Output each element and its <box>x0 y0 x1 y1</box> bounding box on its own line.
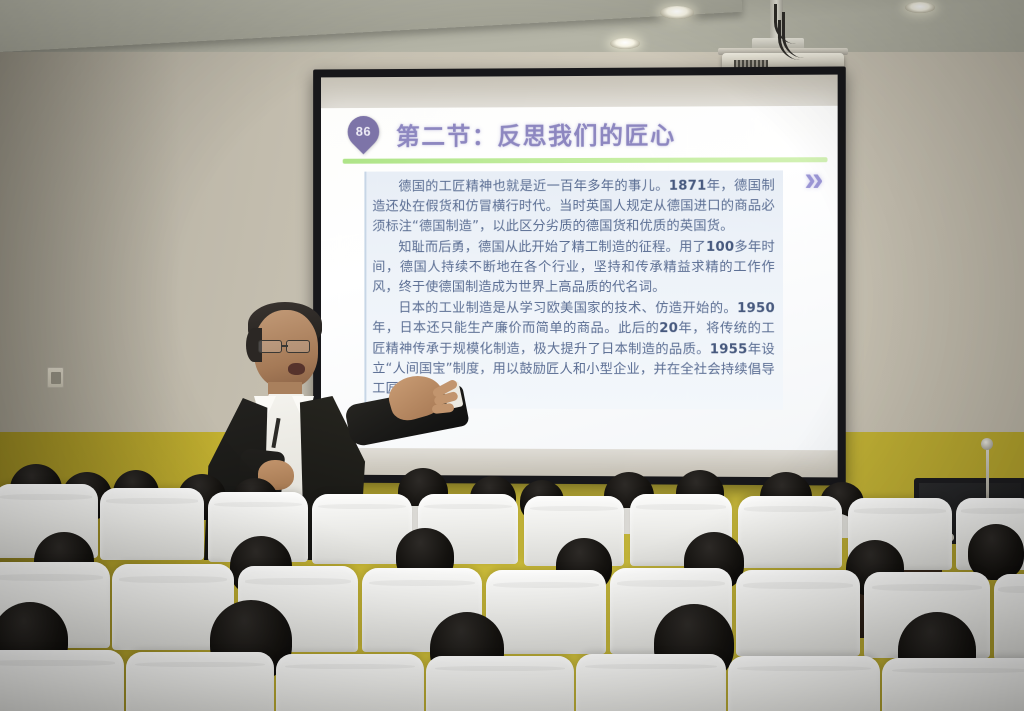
ceiling-downlight <box>610 38 640 49</box>
presenter-glasses-left-lens <box>258 340 282 353</box>
audience-chair <box>276 654 424 711</box>
slide-page-badge: 86 <box>341 109 386 154</box>
audience-seating <box>0 452 1024 711</box>
wall-upper-shadow <box>0 52 180 440</box>
audience-chair <box>736 570 860 656</box>
projector-cable <box>778 20 832 60</box>
slide-divider-rule <box>343 157 828 164</box>
audience-chair <box>994 574 1024 660</box>
slide-title: 第二节：反思我们的匠心 <box>396 116 676 152</box>
slide-header: 86 第二节：反思我们的匠心 <box>321 106 838 164</box>
audience-chair <box>100 488 204 560</box>
lecture-hall-scene: 86 第二节：反思我们的匠心 » 德国的工匠精神也就是近一百年多年的事儿。187… <box>0 0 1024 711</box>
audience-chair <box>426 656 574 711</box>
audience-chair <box>126 652 274 711</box>
audience-chair <box>882 658 1024 711</box>
audience-chair <box>728 656 880 711</box>
double-chevron-icon: » <box>804 162 823 196</box>
presenter-glasses-bridge <box>282 345 288 347</box>
audience-chair <box>486 570 606 654</box>
presenter-glasses-right-lens <box>286 340 310 353</box>
audience-chair <box>576 654 726 711</box>
audience-chair <box>0 650 124 711</box>
wall-socket <box>47 367 64 388</box>
microphone-head-icon <box>981 438 993 450</box>
ceiling-downlight <box>660 6 694 19</box>
audience-chair <box>738 496 842 568</box>
slide-page-number: 86 <box>348 116 380 148</box>
ceiling-downlight <box>905 2 935 13</box>
presenter-mouth <box>288 363 305 375</box>
slide-paragraph: 知耻而后勇，德国从此开始了精工制造的征程。用了100多年时间，德国人持续不断地在… <box>372 238 775 299</box>
slide-paragraph: 德国的工匠精神也就是近一百年多年的事儿。1871年，德国制造还处在假货和仿冒横行… <box>372 176 775 237</box>
